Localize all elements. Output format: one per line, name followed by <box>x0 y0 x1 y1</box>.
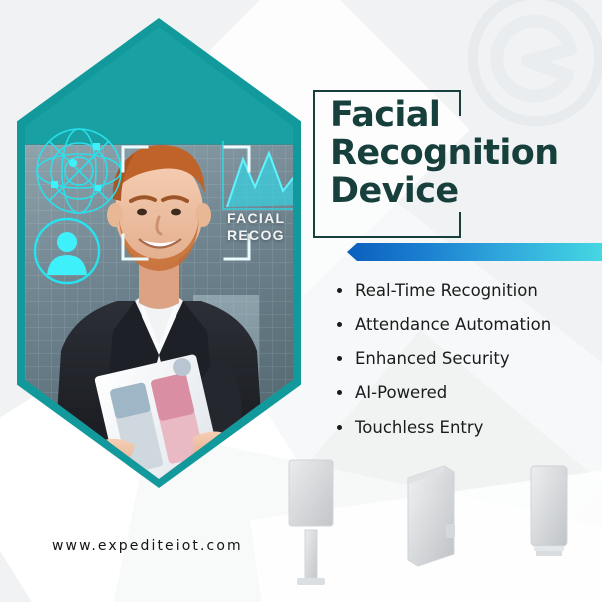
user-profile-scan-icon <box>31 215 103 287</box>
feature-label: AI-Powered <box>355 383 447 402</box>
list-item: Enhanced Security <box>333 350 595 368</box>
headline-line-1: Facial <box>330 97 590 135</box>
list-item: Attendance Automation <box>333 316 595 334</box>
feature-label: Real-Time Recognition <box>355 281 538 300</box>
feature-label: Enhanced Security <box>355 349 510 368</box>
photo-wall-panel <box>41 445 95 479</box>
headline-line-2: Recognition <box>330 135 590 173</box>
radar-scan-icon <box>31 123 127 219</box>
feature-label: Attendance Automation <box>355 315 551 334</box>
promotional-poster: FACIAL RECOG Facial Recognition Device R… <box>0 0 602 602</box>
floor-standing-kiosk-illustration <box>287 458 335 588</box>
photo-overlay-label-line2: RECOG <box>227 227 293 244</box>
list-item: AI-Powered <box>333 384 595 402</box>
feature-label: Touchless Entry <box>355 418 483 437</box>
list-item: Real-Time Recognition <box>333 282 595 300</box>
photo-overlay-label-line1: FACIAL <box>227 210 293 227</box>
photo-overlay-label: FACIAL RECOG <box>227 210 293 244</box>
list-item: Touchless Entry <box>333 419 595 437</box>
hero-photo-hexagon: FACIAL RECOG <box>17 18 301 488</box>
page-title: Facial Recognition Device <box>330 97 590 210</box>
headline-line-3: Device <box>330 173 590 211</box>
website-url[interactable]: www.expediteiot.com <box>52 538 243 554</box>
desktop-terminal-illustration <box>528 464 570 560</box>
accent-gradient-bar <box>347 243 602 261</box>
feature-list: Real-Time Recognition Attendance Automat… <box>333 282 595 453</box>
wall-mounted-terminal-illustration <box>404 462 458 572</box>
